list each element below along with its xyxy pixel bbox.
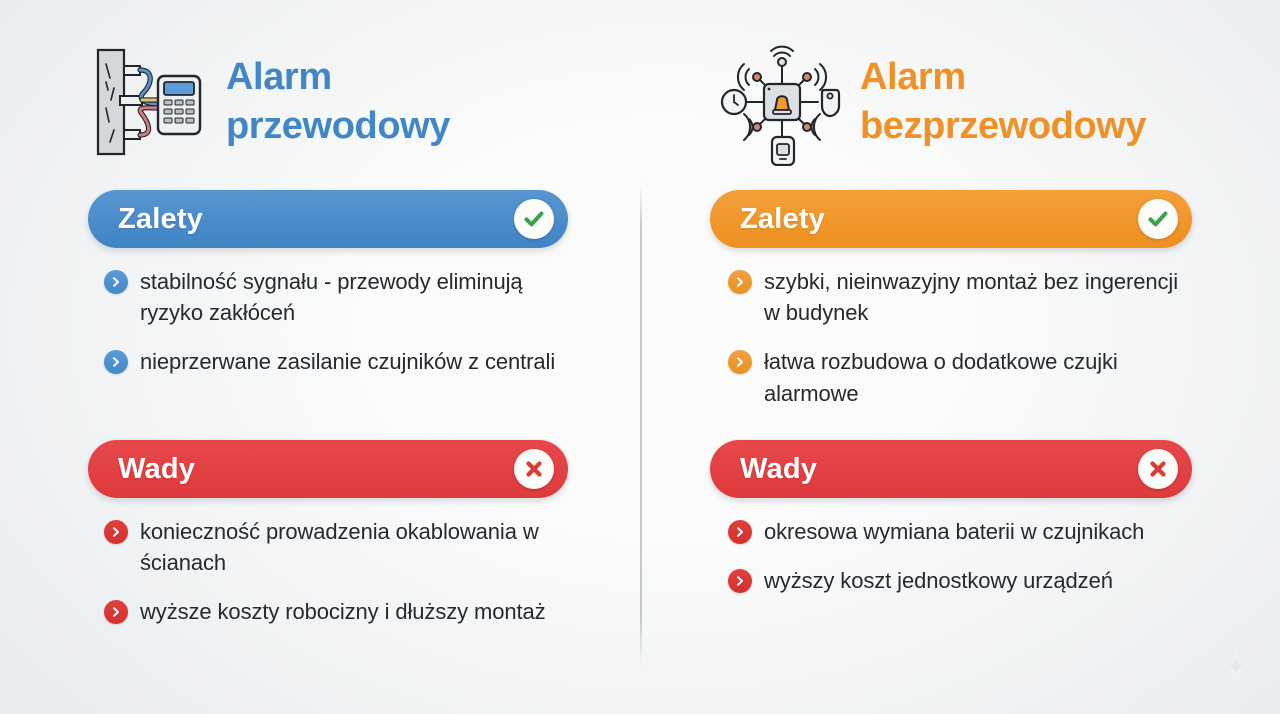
list-item: stabilność sygnału - przewody eliminują … bbox=[104, 266, 564, 328]
column-wired: Alarm przewodowy Zalety stabilność sygna… bbox=[0, 0, 640, 714]
title-wired-line1: Alarm bbox=[226, 53, 450, 102]
list-item: okresowa wymiana baterii w czujnikach bbox=[728, 516, 1198, 547]
column-wireless: Alarm bezprzewodowy Zalety szybki, niein… bbox=[640, 0, 1280, 714]
wired-alarm-panel-icon bbox=[84, 38, 212, 166]
chevron-right-icon bbox=[728, 520, 752, 544]
list-item: wyższy koszt jednostkowy urządzeń bbox=[728, 565, 1198, 596]
list-item-text: wyższe koszty robocizny i dłuższy montaż bbox=[140, 596, 546, 627]
list-item: szybki, nieinwazyjny montaż bez ingerenc… bbox=[728, 266, 1198, 328]
list-item: nieprzerwane zasilanie czujników z centr… bbox=[104, 346, 564, 377]
list-item: łatwa rozbudowa o dodatkowe czujki alarm… bbox=[728, 346, 1198, 408]
title-wireless-line2: bezprzewodowy bbox=[860, 102, 1146, 151]
chevron-right-icon bbox=[104, 270, 128, 294]
infographic-canvas: Alarm przewodowy Zalety stabilność sygna… bbox=[0, 0, 1280, 714]
banner-wired-pros-label: Zalety bbox=[118, 203, 514, 236]
chevron-right-icon bbox=[728, 270, 752, 294]
wireless-alarm-hub-icon bbox=[718, 38, 846, 166]
banner-wired-cons: Wady bbox=[88, 440, 568, 498]
chevron-right-icon bbox=[728, 350, 752, 374]
x-circle-icon bbox=[514, 449, 554, 489]
list-item-text: łatwa rozbudowa o dodatkowe czujki alarm… bbox=[764, 346, 1198, 408]
title-wireless-line1: Alarm bbox=[860, 53, 1146, 102]
list-wireless-pros: szybki, nieinwazyjny montaż bez ingerenc… bbox=[728, 266, 1198, 409]
header-wireless: Alarm bezprzewodowy bbox=[718, 38, 1146, 166]
list-item-text: stabilność sygnału - przewody eliminują … bbox=[140, 266, 564, 328]
banner-wired-pros: Zalety bbox=[88, 190, 568, 248]
list-wireless-cons: okresowa wymiana baterii w czujnikach wy… bbox=[728, 516, 1198, 596]
list-wired-pros: stabilność sygnału - przewody eliminują … bbox=[104, 266, 564, 378]
title-wired-line2: przewodowy bbox=[226, 102, 450, 151]
list-item-text: okresowa wymiana baterii w czujnikach bbox=[764, 516, 1144, 547]
chevron-right-icon bbox=[104, 600, 128, 624]
banner-wireless-pros-label: Zalety bbox=[740, 203, 1138, 236]
list-item-text: nieprzerwane zasilanie czujników z centr… bbox=[140, 346, 555, 377]
header-wired: Alarm przewodowy bbox=[84, 38, 450, 166]
banner-wireless-cons: Wady bbox=[710, 440, 1192, 498]
chevron-right-icon bbox=[104, 520, 128, 544]
title-wireless: Alarm bezprzewodowy bbox=[860, 53, 1146, 150]
check-circle-icon bbox=[514, 199, 554, 239]
banner-wireless-pros: Zalety bbox=[710, 190, 1192, 248]
list-item-text: szybki, nieinwazyjny montaż bez ingerenc… bbox=[764, 266, 1198, 328]
x-circle-icon bbox=[1138, 449, 1178, 489]
chevron-right-icon bbox=[104, 350, 128, 374]
list-item: konieczność prowadzenia okablowania w śc… bbox=[104, 516, 564, 578]
sparkle-watermark-icon bbox=[1214, 644, 1258, 688]
list-item: wyższe koszty robocizny i dłuższy montaż bbox=[104, 596, 564, 627]
title-wired: Alarm przewodowy bbox=[226, 53, 450, 150]
check-circle-icon bbox=[1138, 199, 1178, 239]
list-wired-cons: konieczność prowadzenia okablowania w śc… bbox=[104, 516, 564, 628]
chevron-right-icon bbox=[728, 569, 752, 593]
banner-wired-cons-label: Wady bbox=[118, 453, 514, 486]
banner-wireless-cons-label: Wady bbox=[740, 453, 1138, 486]
list-item-text: wyższy koszt jednostkowy urządzeń bbox=[764, 565, 1113, 596]
list-item-text: konieczność prowadzenia okablowania w śc… bbox=[140, 516, 564, 578]
